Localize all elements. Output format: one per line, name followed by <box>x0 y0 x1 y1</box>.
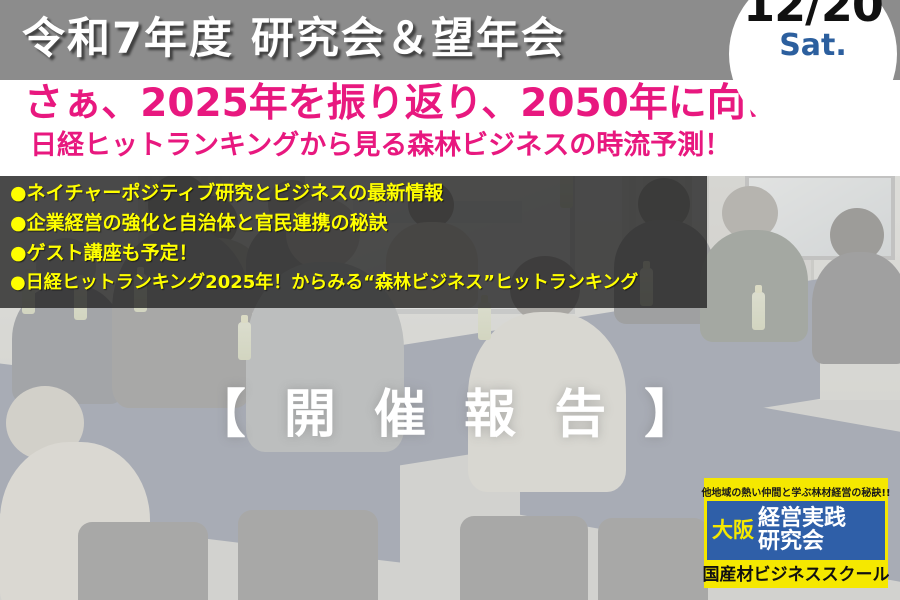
report-caption: 【 開 催 報 告 】 <box>0 372 900 447</box>
logo-prefecture: 大阪 <box>712 520 754 541</box>
bullet-list: ●ネイチャーポジティブ研究とビジネスの最新情報 ●企業経営の強化と自治体と官民連… <box>0 176 707 308</box>
logo-main-panel: 大阪 経営実践 研究会 <box>707 501 885 560</box>
organization-logo-badge: 他地域の熱い仲間と学ぶ林材経営の秘訣!! 大阪 経営実践 研究会 国産材ビジネス… <box>704 478 888 588</box>
logo-name-line2: 研究会 <box>758 531 846 553</box>
headline-sub: 日経ヒットランキングから見る森林ビジネスの時流予測！ <box>30 132 890 160</box>
logo-name: 経営実践 研究会 <box>758 508 846 553</box>
list-item: ●ネイチャーポジティブ研究とビジネスの最新情報 <box>10 184 707 203</box>
event-poster: 令和7年度 研究会＆望年会 12/20 Sat. さぁ、2025年を振り返り、2… <box>0 0 900 600</box>
logo-name-line1: 経営実践 <box>758 508 846 530</box>
logo-tagline: 他地域の熱い仲間と学ぶ林材経営の秘訣!! <box>707 481 885 501</box>
list-item: ●ゲスト講座も予定！ <box>10 244 707 263</box>
list-item: ●日経ヒットランキング2025年！からみる“森林ビジネス”ヒットランキング <box>10 274 707 292</box>
list-item: ●企業経営の強化と自治体と官民連携の秘訣 <box>10 214 707 233</box>
date-month-day: 12/20 <box>743 0 883 28</box>
date-day-of-week: Sat. <box>779 30 847 62</box>
logo-footer: 国産材ビジネススクール <box>707 560 885 585</box>
page-title: 令和7年度 研究会＆望年会 <box>22 4 566 66</box>
